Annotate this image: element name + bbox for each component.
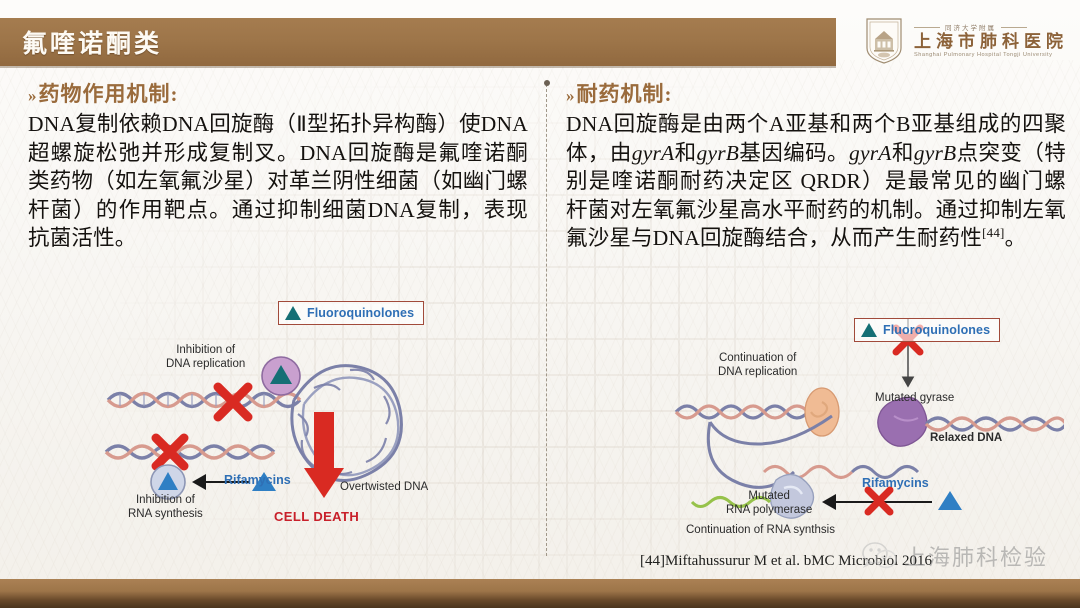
dna-strand-bottom (106, 446, 274, 458)
right-para-end: 。 (1005, 227, 1027, 251)
logo-affiliation: 同济大学附属 (945, 22, 996, 32)
label-inhibition-dna-line2: DNA replication (166, 358, 245, 372)
dna-strand-left (676, 406, 808, 418)
cell-death-arrow (304, 412, 344, 498)
left-heading-text: 药物作用机制: (39, 82, 179, 106)
right-para-2: 基因编码。 (739, 141, 849, 165)
fluoroquinolone-triangle-icon (861, 323, 877, 337)
fluoroquinolones-callout-left: Fluoroquinolones (278, 301, 424, 325)
bullet-chevron-icon: » (566, 86, 576, 105)
right-conj-1: 和 (674, 141, 696, 165)
logo-hospital-name-english: Shanghai Pulmonary Hospital Tongji Unive… (914, 52, 1068, 58)
label-cell-death: CELL DEATH (274, 509, 359, 525)
label-mutated-rna-polymerase: Mutated RNA polymerase (726, 490, 812, 518)
supercoiled-dna-loop (292, 366, 402, 481)
label-mutated-rnap-line2: RNA polymerase (726, 504, 812, 518)
label-continuation-dna-line2: DNA replication (718, 366, 797, 380)
slide-root: 氟喹诺酮类 同济大学附属 上海市肺科医院 Shanghai Pulmonary … (0, 0, 1080, 608)
shield-crest-building-icon (864, 15, 904, 65)
right-column: »耐药机制: DNA回旋酶是由两个A亚基和两个B亚基组成的四聚体，由gyrA和g… (566, 78, 1066, 253)
left-column-heading: »药物作用机制: (28, 78, 528, 108)
left-column: »药物作用机制: DNA复制依赖DNA回旋酶（Ⅱ型拓扑异构酶）使DNA超螺旋松弛… (28, 78, 528, 253)
gene-gyrB-2: gyrB (914, 141, 957, 165)
label-overtwisted-dna: Overtwisted DNA (340, 481, 428, 495)
logo-text-block: 同济大学附属 上海市肺科医院 Shanghai Pulmonary Hospit… (914, 22, 1068, 58)
label-inhibition-dna-line1: Inhibition of (166, 344, 245, 358)
fluoroquinolones-label: Fluoroquinolones (883, 323, 990, 337)
dna-strand-relaxed-right (926, 418, 1064, 430)
reference-footer: [44]Miftahussurur M et al. bMC Microbiol… (640, 553, 932, 570)
page-title: 氟喹诺酮类 (22, 24, 162, 60)
label-continuation-rna-synthesis: Continuation of RNA synthsis (686, 524, 835, 538)
label-continuation-dna-replication: Continuation of DNA replication (718, 352, 797, 380)
fluoroquinolones-callout-right: Fluoroquinolones (854, 318, 1000, 342)
gyrase-target-circle (262, 357, 300, 395)
label-continuation-dna-line1: Continuation of (718, 352, 797, 366)
citation-marker: [44] (982, 225, 1004, 240)
label-rifamycins-left: Rifamycins (224, 473, 291, 488)
logo-rule-right (1001, 27, 1027, 28)
label-mutated-rnap-line1: Mutated (726, 490, 812, 504)
fluoroquinolone-triangle-icon (285, 306, 301, 320)
slide-title-bar: 氟喹诺酮类 (0, 18, 836, 66)
gene-gyrA-2: gyrA (849, 141, 892, 165)
bullet-chevron-icon: » (28, 86, 38, 105)
label-inhibition-dna-replication: Inhibition of DNA replication (166, 344, 245, 372)
label-inhibition-rna-line1: Inhibition of (128, 494, 203, 508)
label-inhibition-rna-line2: RNA synthesis (128, 508, 203, 522)
logo-affiliation-row: 同济大学附属 (914, 22, 1068, 32)
label-inhibition-rna-synthesis: Inhibition of RNA synthesis (128, 494, 203, 522)
right-column-paragraph: DNA回旋酶是由两个A亚基和两个B亚基组成的四聚体，由gyrA和gyrB基因编码… (566, 110, 1066, 253)
gene-gyrA: gyrA (632, 141, 675, 165)
red-cross-dna-replication-1 (218, 387, 248, 417)
left-column-paragraph: DNA复制依赖DNA回旋酶（Ⅱ型拓扑异构酶）使DNA超螺旋松弛并形成复制叉。DN… (28, 110, 528, 253)
label-relaxed-dna: Relaxed DNA (930, 432, 1002, 446)
logo-rule-left (914, 27, 940, 28)
hospital-logo: 同济大学附属 上海市肺科医院 Shanghai Pulmonary Hospit… (864, 12, 1068, 68)
logo-hospital-name: 上海市肺科医院 (914, 32, 1068, 52)
label-rifamycins-right: Rifamycins (862, 476, 929, 491)
right-column-heading: »耐药机制: (566, 78, 1066, 108)
right-conj-2: 和 (892, 141, 914, 165)
slide-bottom-bar (0, 579, 1080, 608)
rifamycin-triangle-icon (938, 491, 962, 510)
column-divider (546, 84, 548, 556)
gene-gyrB: gyrB (697, 141, 740, 165)
fluoroquinolones-label: Fluoroquinolones (307, 306, 414, 320)
label-mutated-gyrase: Mutated gyrase (875, 392, 954, 406)
dna-strand-top (108, 394, 300, 407)
right-heading-text: 耐药机制: (577, 82, 673, 106)
